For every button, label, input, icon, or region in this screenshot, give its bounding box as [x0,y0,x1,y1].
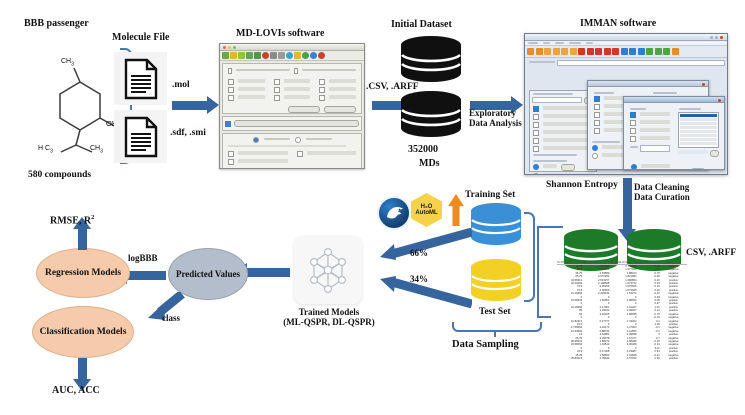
ranking-output-title [533,160,567,162]
mds-unit-label: MDs [419,158,440,170]
option-label-1 [236,69,290,71]
trained-models-line-1: Trained Models [299,307,360,317]
checkbox-standard[interactable] [533,114,539,120]
eda-label: Exploratory Data Analysis [469,108,529,129]
run-icon[interactable] [286,52,293,59]
orange-icon[interactable] [672,48,679,55]
menu-process[interactable] [569,42,581,44]
imman-opt-4[interactable] [533,130,593,136]
field-jeffreys-4 [640,136,670,140]
agg-row-3[interactable] [297,151,357,157]
radio-crossed[interactable] [533,173,539,175]
red5-icon[interactable] [612,48,619,55]
radio-label-2 [306,138,332,140]
table-cell: 2.05943 [584,357,611,360]
imman-opt-2[interactable] [533,114,593,120]
table-header-cell: GJ-DK-INA [557,261,583,264]
atom-h3c: H C [38,145,50,152]
imman-pathbar[interactable] [527,60,725,65]
imman-opt-3[interactable] [533,122,593,128]
imman-maximize-icon[interactable] [715,36,718,39]
compounds-count-label: 580 compounds [28,170,91,181]
trained-models-line-2: (ML-QSPR, DL-QSPR) [283,317,375,327]
edit-icon[interactable] [238,52,245,59]
field-energy [543,146,593,150]
mdlovis-title-label: MD-LOVIs software [236,28,324,40]
checkbox-entropy-3[interactable] [594,112,600,118]
red4-icon[interactable] [604,48,611,55]
agg-row-2[interactable] [228,159,288,165]
menu-help2[interactable] [586,42,593,44]
field-jeffreys-3 [640,128,670,132]
opt-row-c1[interactable] [319,79,356,85]
import-icon[interactable] [254,52,261,59]
green2-icon[interactable] [655,48,662,55]
checkbox-jeffreys-4[interactable] [630,136,636,142]
field-single [543,164,557,168]
data-cleaning-label: Data Cleaning Data Curation [634,182,714,203]
jeffreys-ranking-dialog[interactable] [623,96,725,170]
train-percentage-label: 66% [410,248,428,258]
table-cell: positive [662,357,687,360]
cleaning-line-1: Data Cleaning [634,182,689,192]
data-sampling-stem [494,330,496,337]
jeffreys-item-4[interactable] [630,136,670,142]
starting-value [706,169,714,170]
menu-help[interactable] [543,42,550,44]
checkbox-a1[interactable] [228,79,234,85]
radio-select-all[interactable] [631,164,637,170]
checkbox-manhattan[interactable] [228,151,234,157]
arrow-predicted-to-regression [126,271,166,280]
mol-extension-label: .mol [172,80,190,91]
h2o-label: H₂O [421,204,433,210]
opt-row-a2[interactable] [228,87,265,93]
key2-icon[interactable] [553,48,560,55]
attribute-row[interactable] [680,138,718,141]
select-all-button[interactable] [288,106,320,113]
test-set-label: Test Set [479,307,511,318]
jeffreys-config-label [679,108,701,110]
checkbox-a3[interactable] [228,95,234,101]
regression-models-node: Regression Models [36,248,130,298]
field-jeffreys-1 [640,112,670,116]
key-icon[interactable] [544,48,551,55]
field-a3 [238,95,265,99]
attribute-row-selected[interactable] [680,114,718,117]
molecule-file-label: Molecule File [112,32,169,44]
field-b3 [284,95,311,99]
field-c2 [329,87,356,91]
field-crossed [543,173,593,175]
form-field[interactable] [234,120,359,127]
key3-icon[interactable] [561,48,568,55]
checkbox-euclidean[interactable] [228,159,234,165]
table-cell: 0.39 [638,357,661,360]
sampling-bracket-bottom [537,316,551,318]
opt-row-a3[interactable] [228,95,265,101]
mol-file-icon [114,52,167,105]
arrow-classification-to-metrics [78,358,87,380]
atom-ch3-right: CH [90,145,100,152]
jeffreys-dialog-close-icon[interactable] [718,99,721,102]
jeffreys-size-input[interactable] [640,145,670,152]
form-checkbox[interactable] [225,121,231,127]
attribute-listbox[interactable] [678,112,720,148]
link-icon[interactable] [278,52,285,59]
mdlovis-aggregation-panel [222,133,362,169]
close-icon[interactable] [318,52,325,59]
search-icon[interactable] [570,48,577,55]
mds-count-label: 352000 [408,144,438,156]
training-set-label: Training Set [465,190,515,201]
sdf-smi-extension-label: .sdf, .smi [170,128,206,139]
eda-line-1: Exploratory [469,108,516,118]
sampling-bracket-vertical [537,226,539,318]
checkbox-minkowski[interactable] [297,151,303,157]
checkbox-energy[interactable] [533,146,539,152]
aggregation-tabs [228,145,346,147]
imman-opt-6[interactable] [533,146,593,152]
class-label: class [162,313,180,323]
arrow-imman-to-curated [623,178,632,230]
tree-icon[interactable] [246,52,253,59]
attribute-row[interactable] [680,118,718,121]
checkbox-c3[interactable] [319,95,325,101]
globe-icon[interactable] [302,52,309,59]
field-euclidean [238,159,288,163]
menu-options[interactable] [528,42,538,44]
atom-ch3-right-sub: 3 [100,148,103,154]
arrow-regression-to-metrics [78,228,87,250]
field-shannon [543,106,593,110]
atom-ch3-top-sub: 3 [71,61,74,67]
field-select-all [641,164,670,168]
checkbox-shannon[interactable] [533,106,539,112]
output-single-row[interactable] [533,164,593,171]
mdlovis-window[interactable] [219,43,365,169]
jeffreys-dialog-titlebar[interactable] [624,97,724,103]
radio-no-aggregation[interactable] [253,137,259,143]
rmse-r2-superscript: 2 [91,214,94,221]
data-sampling-label: Data Sampling [452,339,519,351]
radio-aggregation[interactable] [295,137,301,143]
checkbox-densities[interactable] [533,138,539,144]
checkbox-b3[interactable] [274,95,280,101]
train-test-bracket [524,212,535,302]
bbb-passenger-label: BBB passenger [24,18,89,30]
mdlovis-form-panel [222,116,362,131]
opt-row-b1[interactable] [274,79,311,85]
field-b1 [284,79,311,83]
field-negentropy [543,122,593,126]
checkbox-b1[interactable] [274,79,280,85]
auc-acc-label: AUC, ACC [52,385,100,397]
atom-ch3-top: CH [61,58,71,65]
green3-icon[interactable] [663,48,670,55]
entropy-dialog-titlebar[interactable] [588,81,708,87]
csv-arff-label-2: CSV, .ARFF [686,248,736,259]
field-entropy-single [602,145,624,149]
field-densities [543,138,593,142]
shannon-entropy-label: Shannon Entropy [546,180,618,191]
h2o-automl-icon: H₂O AutoML [411,193,442,227]
option-label-2 [302,69,356,71]
checkbox-jeffreys-1[interactable] [630,112,636,118]
starting-label [676,169,690,170]
imman-toolbar[interactable] [525,46,727,58]
imman-opt-5[interactable] [533,138,593,144]
atom-h3c-sub: 3 [50,148,53,154]
field-a1 [238,79,265,83]
checkbox-entropy-1[interactable] [594,96,600,102]
green1-icon[interactable] [646,48,653,55]
test-set-cylinder [470,258,522,302]
opt-row-c2[interactable] [319,87,356,93]
checkbox-jeffreys-3[interactable] [630,128,636,134]
folder-open-icon[interactable] [222,52,229,59]
output-crossed-row[interactable] [533,173,593,175]
single-dropdown[interactable] [561,164,575,171]
entropy-dialog-close-icon[interactable] [702,83,705,86]
classification-models-label: Classification Models [40,327,127,338]
field-entropy-crossed [602,153,624,157]
checkbox-rebour[interactable] [533,130,539,136]
rmse-r2-text: RMSE, R [50,215,91,226]
red1-icon[interactable] [578,48,585,55]
minus-icon[interactable] [270,52,277,59]
table-header-cell: AP-DK-NE-DC3 [609,261,635,264]
red2-icon[interactable] [587,48,594,55]
classification-models-node: Classification Models [32,306,134,358]
table-cell: 35.83313 [557,357,584,360]
checkbox-local-indices[interactable] [294,68,298,74]
open-icon[interactable] [536,48,543,55]
red3-icon[interactable] [595,48,602,55]
logbbb-label: logBBB [128,253,158,263]
checkbox-use-symbol[interactable] [228,68,232,74]
attribute-row[interactable] [680,122,718,125]
descriptor-data-table[interactable]: GJ-DK-INA AV-V-NE-DC2 AP-DK-NE-DC3 R-Lag… [557,261,687,360]
entropy-config-label [653,92,677,94]
blue1-icon[interactable] [621,48,628,55]
jeffreys-select-all-row[interactable] [631,164,670,170]
stop-icon[interactable] [262,52,269,59]
table-header-cell: AV-V-NE-DC2 [583,261,609,264]
blue2-icon[interactable] [629,48,636,55]
imman-opt-1[interactable] [533,106,593,112]
attribute-selector-field[interactable] [678,150,709,154]
attribute-row[interactable] [680,142,718,145]
window-dot-red [223,46,226,49]
window-dot-yellow [228,46,231,49]
jeffreys-item-3[interactable] [630,128,670,134]
starting-field[interactable] [692,168,704,170]
variable-statistics-label [533,154,577,156]
table-header-cell: class [657,261,681,264]
trained-models-box[interactable] [294,236,362,304]
jeffreys-size-label [630,146,638,148]
field-minkowski [307,151,357,155]
mdlovis-options-panel [222,63,362,114]
radio-label-1 [264,138,290,140]
jeffreys-item-1[interactable] [630,112,670,118]
imman-titlebar[interactable] [525,34,727,41]
radio-single[interactable] [533,164,539,170]
training-set-cylinder [470,202,522,246]
checkbox-b2[interactable] [274,87,280,93]
table-row[interactable]: 35.833132.059431.570420.39positive [557,357,687,360]
window-dot-green [233,46,236,49]
initial-dataset-label: Initial Dataset [391,19,452,31]
opt-row-c3[interactable] [319,95,356,101]
radio-entropy-single[interactable] [592,145,598,151]
field-standard [543,114,593,118]
checkbox-negentropy[interactable] [533,122,539,128]
help-icon[interactable] [310,52,317,59]
jeffreys-item-2[interactable] [630,120,670,126]
attribute-row[interactable] [680,130,718,133]
eda-line-2: Data Analysis [469,118,522,128]
automl-label: AutoML [415,210,437,216]
automl-up-arrow-icon [448,194,464,226]
attribute-row[interactable] [680,126,718,129]
mdlovis-titlebar[interactable] [220,44,364,51]
home-icon[interactable] [294,52,301,59]
field-rebour [543,130,593,134]
field-c3 [329,95,356,99]
table-body[interactable]: 11.751.5650340.744946-0.04negative78.52.… [557,265,687,360]
imman-minimize-icon[interactable] [710,36,713,39]
options-checkbox-row[interactable] [228,68,356,74]
checkbox-jeffreys-2[interactable] [630,120,636,126]
predicted-values-label: Predicted Values [176,269,240,279]
cleaning-line-2: Data Curation [634,192,690,202]
path-label [529,61,555,63]
field-jeffreys-2 [640,120,670,124]
agg-row-1[interactable] [228,151,288,157]
imman-window[interactable] [524,33,728,175]
checkbox-entropy-5[interactable] [594,128,600,134]
field-b2 [284,87,311,91]
regression-models-label: Regression Models [45,268,121,279]
field-a2 [238,87,265,91]
weka-icon [377,196,411,230]
initial-dataset-cylinder-bottom [400,90,462,138]
new-icon[interactable] [527,48,534,55]
initial-dataset-cylinder-top [400,35,462,83]
molecule-structure: CH3 OH H C3 CH3 [34,52,126,157]
arrow-models-to-predicted [246,268,290,277]
checkbox-entropy-4[interactable] [594,120,600,126]
attribute-row[interactable] [680,134,718,137]
path-field[interactable] [557,60,725,66]
ranking-options-title [533,93,573,95]
curated-to-sampling-connector [537,226,563,228]
entropy-output-title [592,141,620,143]
entropy-group-label [594,92,614,94]
rmse-r2-label: RMSE, R2 [50,214,94,227]
opt-row-b2[interactable] [274,87,311,93]
data-sampling-bracket [452,322,542,332]
opt-row-b3[interactable] [274,95,311,101]
deselect-all-button[interactable] [324,106,356,113]
radio-entropy-crossed[interactable] [592,153,598,159]
arrow-files-to-mdlovis [172,101,208,110]
blue3-icon[interactable] [638,48,645,55]
table-cell: 1.57042 [611,357,638,360]
sdf-smi-file-icon [114,110,167,163]
checkbox-a2[interactable] [228,87,234,93]
save-icon[interactable] [230,52,237,59]
field-manhattan [238,151,288,155]
trained-models-label: Trained Models (ML-QSPR, DL-QSPR) [278,307,380,328]
attribute-dropdown[interactable] [710,150,719,157]
checkbox-c2[interactable] [319,87,325,93]
imman-title-label: IMMAN software [580,18,656,30]
correlation-field[interactable] [532,97,582,103]
menu-tools[interactable] [555,42,564,44]
mdlovis-toolbar[interactable] [220,51,364,61]
opt-row-a1[interactable] [228,79,265,85]
checkbox-c1[interactable] [319,79,325,85]
table-header-cell: R-Lag BBB [635,261,657,264]
jeffreys-group-label [630,108,646,110]
imman-close-icon[interactable] [720,36,723,39]
test-percentage-label: 34% [410,274,428,284]
field-c1 [329,79,356,83]
checkbox-entropy-2[interactable] [594,104,600,110]
